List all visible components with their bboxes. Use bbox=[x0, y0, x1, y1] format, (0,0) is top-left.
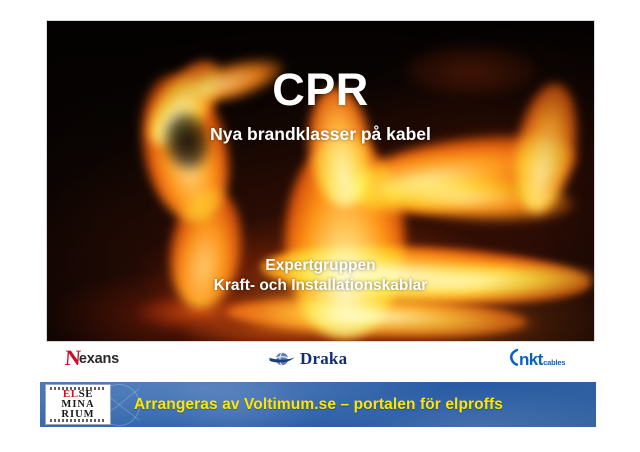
elseminarium-logo: ELSE MINA RIUM bbox=[45, 384, 111, 425]
elseminarium-bottom-rule bbox=[50, 419, 106, 422]
ember-right bbox=[409, 311, 539, 337]
nkt-cables-logo: nkt cables bbox=[509, 344, 565, 374]
sponsor-banner: ELSE MINA RIUM Arrangeras av Voltimum.se… bbox=[40, 382, 596, 427]
presentation-slide: CPR Nya brandklasser på kabel Expertgrup… bbox=[0, 0, 640, 452]
draka-wordmark: Draka bbox=[300, 349, 347, 369]
elseminarium-logo-inner: ELSE MINA RIUM bbox=[48, 387, 108, 422]
elseminarium-se-text: SE bbox=[79, 389, 93, 400]
nkt-wordmark: nkt bbox=[519, 351, 543, 368]
globe-swoosh-icon bbox=[269, 351, 295, 367]
nexans-wordmark: exans bbox=[79, 351, 119, 367]
nkt-swoosh-icon bbox=[509, 348, 518, 371]
sponsor-logo-strip: N exans Draka nkt cables bbox=[47, 344, 594, 374]
ember-center bbox=[187, 319, 347, 341]
draka-logo: Draka bbox=[269, 344, 347, 374]
slide-background-image: CPR Nya brandklasser på kabel Expertgrup… bbox=[47, 21, 594, 341]
nkt-cables-subword: cables bbox=[543, 358, 565, 374]
elseminarium-line-1: ELSE bbox=[48, 389, 108, 400]
elseminarium-el-text: EL bbox=[63, 389, 79, 400]
banner-message: Arrangeras av Voltimum.se – portalen för… bbox=[134, 396, 503, 414]
fire-photo bbox=[47, 21, 594, 341]
flame-glow-top bbox=[407, 45, 537, 95]
nexans-logo: N exans bbox=[65, 344, 119, 374]
elseminarium-top-rule bbox=[50, 387, 106, 390]
nexans-n-icon: N bbox=[64, 347, 80, 369]
